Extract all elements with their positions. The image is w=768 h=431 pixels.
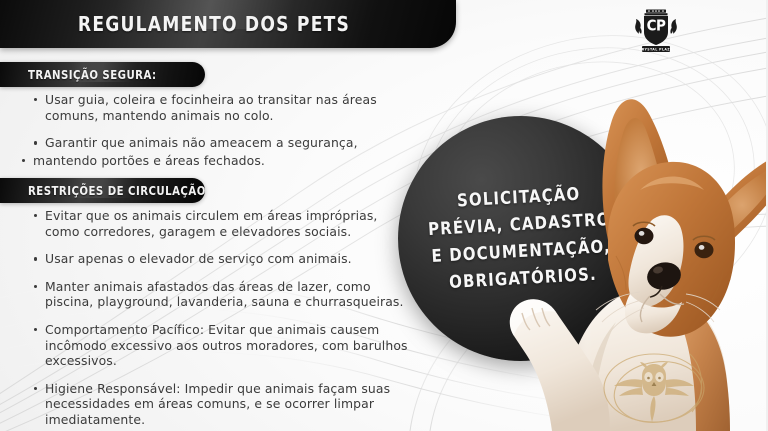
- header-bar: REGULAMENTO DOS PETS: [0, 0, 456, 48]
- bullet-list-restricoes: Evitar que os animais circulem em áreas …: [34, 208, 414, 428]
- list-item: Manter animais afastados das áreas de la…: [34, 279, 414, 310]
- list-item: Higiene Responsável: Impedir que animais…: [34, 381, 414, 428]
- list-item: Garantir que animais não ameacem a segur…: [34, 135, 414, 151]
- list-item: Usar guia, coleira e focinheira ao trans…: [34, 92, 414, 123]
- section-header-label: RESTRIÇÕES DE CIRCULAÇÃO:: [28, 184, 205, 198]
- bullet-list-transicao-segura: Usar guia, coleira e focinheira ao trans…: [34, 92, 414, 168]
- list-item: Evitar que os animais circulem em áreas …: [34, 208, 414, 239]
- section-header-restricoes-de-circulacao: RESTRIÇÕES DE CIRCULAÇÃO:: [0, 178, 205, 203]
- logo-subtitle: CRYSTAL PLAZA: [639, 47, 673, 51]
- section-header-transicao-segura: TRANSIÇÃO SEGURA:: [0, 62, 205, 87]
- owl-watermark: [592, 342, 720, 431]
- list-item: mantendo portões e áreas fechados.: [22, 153, 414, 169]
- pet-rules-slide: REGULAMENTO DOS PETS CP CRYSTAL PLAZA TR…: [0, 0, 768, 431]
- svg-text:CP: CP: [647, 17, 666, 35]
- section-header-label: TRANSIÇÃO SEGURA:: [28, 68, 157, 82]
- page-title: REGULAMENTO DOS PETS: [15, 0, 413, 48]
- list-item: Usar apenas o elevador de serviço com an…: [34, 251, 414, 267]
- crystal-plaza-crest-logo: CP CRYSTAL PLAZA: [630, 8, 682, 54]
- list-item: Comportamento Pacífico: Evitar que anima…: [34, 322, 414, 369]
